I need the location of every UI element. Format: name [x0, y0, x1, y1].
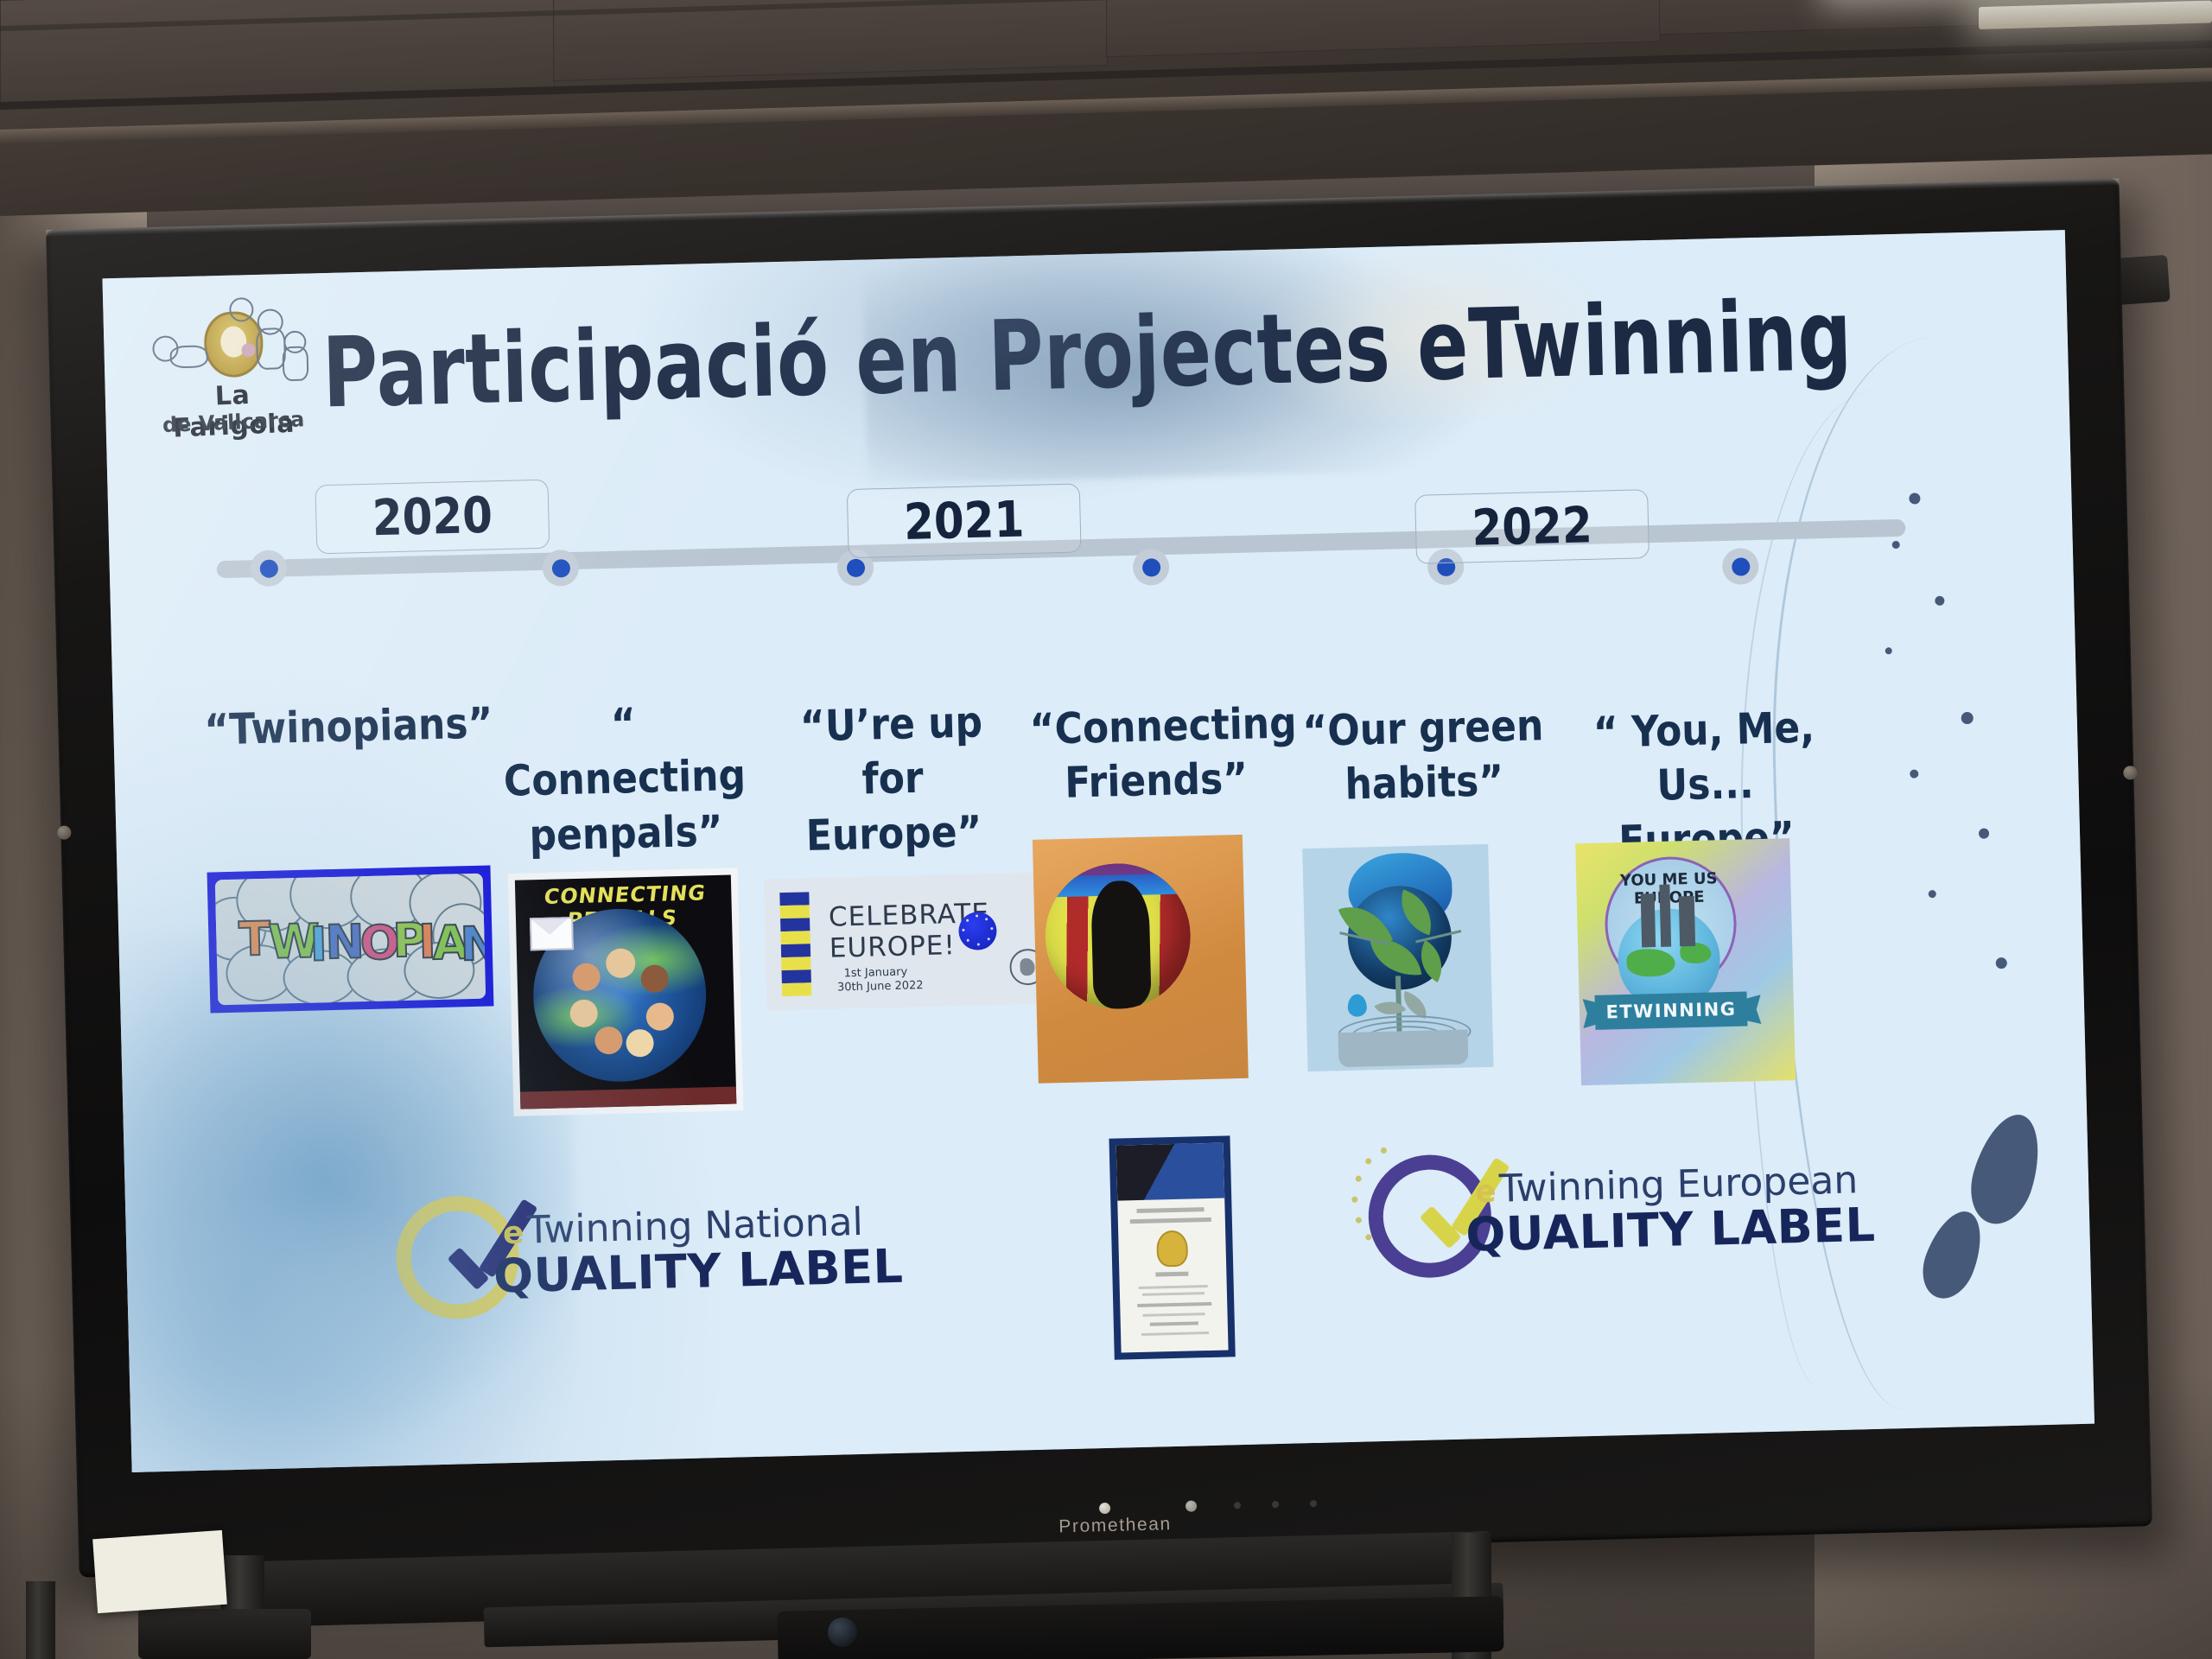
year-label: 2021: [903, 491, 1025, 551]
paper-note: [92, 1530, 227, 1613]
crest-icon: [203, 311, 264, 378]
eu-flag-bar: [779, 892, 811, 996]
celebrate-line2: EUROPE!: [829, 930, 956, 964]
child-figure-icon: [282, 346, 308, 381]
interactive-whiteboard[interactable]: La Farigola de Vallcarca Participació en…: [46, 179, 2152, 1578]
tower-icon: [1641, 893, 1656, 947]
project-title-3: “U’re up for Europe”: [770, 695, 1016, 864]
camera-lens: [828, 1618, 857, 1647]
envelope-icon: [530, 917, 574, 950]
timeline-year-2022: 2022: [1414, 489, 1649, 564]
device-brand-label: Promethean: [1058, 1514, 1172, 1537]
slide-title: Participació en Projectes eTwinning: [321, 284, 1883, 425]
certificate-paper: [1116, 1143, 1229, 1353]
flag-sphere-illustration: [1044, 861, 1192, 1010]
timeline-node[interactable]: [1722, 548, 1759, 585]
project-image-3: CELEBRATE EUROPE! 1st January 30th June …: [764, 872, 1052, 1010]
connecting-penpals-poster: CONNECTING PENPALS: [515, 875, 736, 1109]
landmass-icon: [1626, 949, 1675, 977]
banner-text: ETWINNING: [1605, 999, 1736, 1023]
quality-label-european: e Twinning European QUALITY LABEL: [1346, 1132, 1954, 1259]
timeline-year-2021: 2021: [847, 483, 1082, 558]
project-image-1: T W I N O P I A N S: [207, 865, 494, 1013]
tower-icon: [1659, 885, 1671, 947]
certificate-header: [1116, 1143, 1225, 1201]
project-title-4: “Connecting Friends”: [1029, 697, 1282, 812]
project-image-5: [1302, 844, 1493, 1071]
project-image-6: YOU ME US EUROPE ETWINNING: [1575, 838, 1796, 1085]
project-image-2: CONNECTING PENPALS: [508, 868, 744, 1116]
child-figure-icon: [169, 345, 208, 368]
project-title-5: “Our green habits”: [1297, 699, 1550, 814]
tower-icon: [1679, 896, 1695, 946]
quality-label-bottom-text: QUALITY LABEL: [493, 1239, 904, 1304]
project-title-1: “Twinopians”: [204, 696, 490, 758]
leaf-icon: [1399, 991, 1432, 1019]
award-bulb-icon: [1156, 1230, 1188, 1268]
timeline-year-2020: 2020: [315, 480, 550, 555]
crest-flower-icon: [241, 343, 255, 357]
screen[interactable]: La Farigola de Vallcarca Participació en…: [102, 230, 2094, 1472]
stand-base: [138, 1609, 311, 1659]
project-image-4: [1033, 835, 1249, 1084]
quality-label-bottom-text: QUALITY LABEL: [1465, 1198, 1877, 1262]
etwinning-e: e: [502, 1216, 524, 1252]
room-photo: La Farigola de Vallcarca Participació en…: [0, 0, 2212, 1659]
stand-leg: [26, 1581, 55, 1659]
eu-circle-icon: [958, 912, 997, 950]
timeline-node[interactable]: [542, 550, 579, 587]
child-figure-icon: [256, 327, 286, 370]
crest-inner: [220, 326, 247, 358]
project-title-2: “ Connecting penpals”: [493, 695, 757, 865]
silhouette: [1090, 880, 1152, 1009]
twinopians-drawing: T W I N O P I A N S: [215, 874, 486, 1006]
year-label: 2022: [1471, 496, 1593, 556]
quality-label-national: e Twinning National QUALITY LABEL: [395, 1173, 985, 1300]
presentation-slide: La Farigola de Vallcarca Participació en…: [102, 230, 2094, 1472]
year-label: 2020: [372, 486, 493, 547]
school-logo: La Farigola de Vallcarca: [146, 296, 314, 455]
timeline-node[interactable]: [1133, 549, 1170, 586]
etwinning-e: e: [1475, 1174, 1497, 1211]
celebrate-date1: 1st January: [843, 966, 907, 981]
certificate-image: [1109, 1135, 1235, 1359]
timeline-node[interactable]: [250, 550, 287, 587]
poster-footer: [520, 1086, 736, 1109]
etwinning-banner: ETWINNING: [1595, 991, 1748, 1029]
water-drop-icon: [1347, 994, 1367, 1017]
celebrate-date2: 30th June 2022: [837, 979, 924, 994]
